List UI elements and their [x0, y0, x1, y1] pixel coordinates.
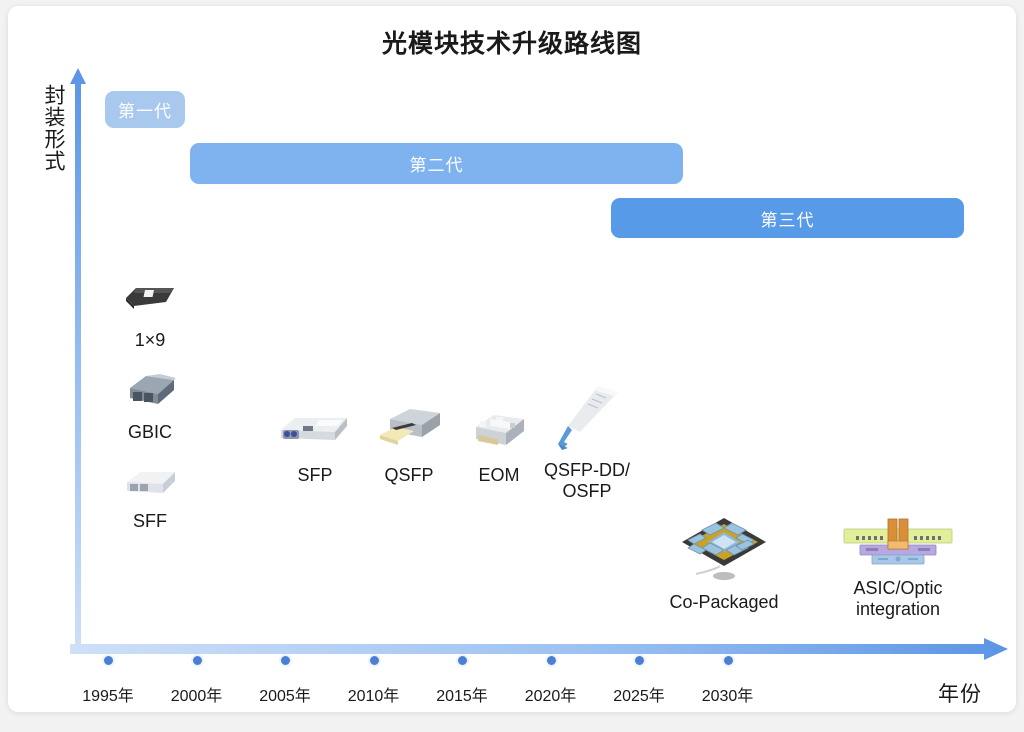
roadmap-card: 光模块技术升级路线图 封装形式	[8, 6, 1016, 712]
module-asic-optic-icon	[828, 514, 968, 572]
x-axis-label: 年份	[938, 678, 982, 708]
generation-bar: 第一代	[105, 91, 185, 128]
product-item: ASIC/Optic integration	[828, 514, 968, 620]
x-axis-tick-dot	[191, 654, 204, 667]
product-label: GBIC	[80, 422, 220, 443]
x-axis-tick-dot	[279, 654, 292, 667]
module-co-packaged-icon	[654, 510, 794, 586]
module-1x9-icon	[80, 268, 220, 324]
x-axis-tick-dot	[456, 654, 469, 667]
product-item: SFF	[80, 458, 220, 532]
product-label: Co-Packaged	[654, 592, 794, 613]
product-label: ASIC/Optic integration	[828, 578, 968, 620]
y-axis-label: 封装形式	[30, 84, 64, 172]
product-item: QSFP-DD/ OSFP	[517, 384, 657, 502]
generation-bar-label: 第三代	[761, 206, 815, 231]
generation-bar: 第三代	[611, 198, 964, 238]
x-axis-tick-dot	[102, 654, 115, 667]
generation-bar-label: 第二代	[410, 151, 464, 176]
x-axis-tick-dot	[722, 654, 735, 667]
x-axis-tick-label: 2025年	[613, 682, 665, 706]
x-axis-tick-label: 1995年	[82, 682, 134, 706]
x-axis-tick-label: 2010年	[348, 682, 400, 706]
x-axis-arrow	[70, 638, 1008, 662]
product-item: GBIC	[80, 366, 220, 443]
product-item: 1×9	[80, 268, 220, 351]
x-axis-tick-label: 2000年	[171, 682, 223, 706]
page-title: 光模块技术升级路线图	[8, 24, 1016, 60]
x-axis-tick-label: 2020年	[525, 682, 577, 706]
x-axis-tick-label: 2015年	[436, 682, 488, 706]
x-axis-tick-dot	[545, 654, 558, 667]
x-axis-tick-label: 2005年	[259, 682, 311, 706]
x-axis-tick-dot	[633, 654, 646, 667]
product-label: SFF	[80, 511, 220, 532]
module-qsfpdd-osfp-icon	[517, 384, 657, 454]
generation-bar-label: 第一代	[118, 97, 172, 122]
product-label: 1×9	[80, 330, 220, 351]
y-axis-arrow	[70, 68, 86, 654]
x-axis-tick-dot	[368, 654, 381, 667]
product-item: Co-Packaged	[654, 510, 794, 613]
product-label: QSFP-DD/ OSFP	[517, 460, 657, 502]
generation-bar: 第二代	[190, 143, 683, 184]
x-axis-tick-label: 2030年	[702, 682, 754, 706]
module-sff-icon	[80, 458, 220, 505]
module-gbic-icon	[80, 366, 220, 416]
